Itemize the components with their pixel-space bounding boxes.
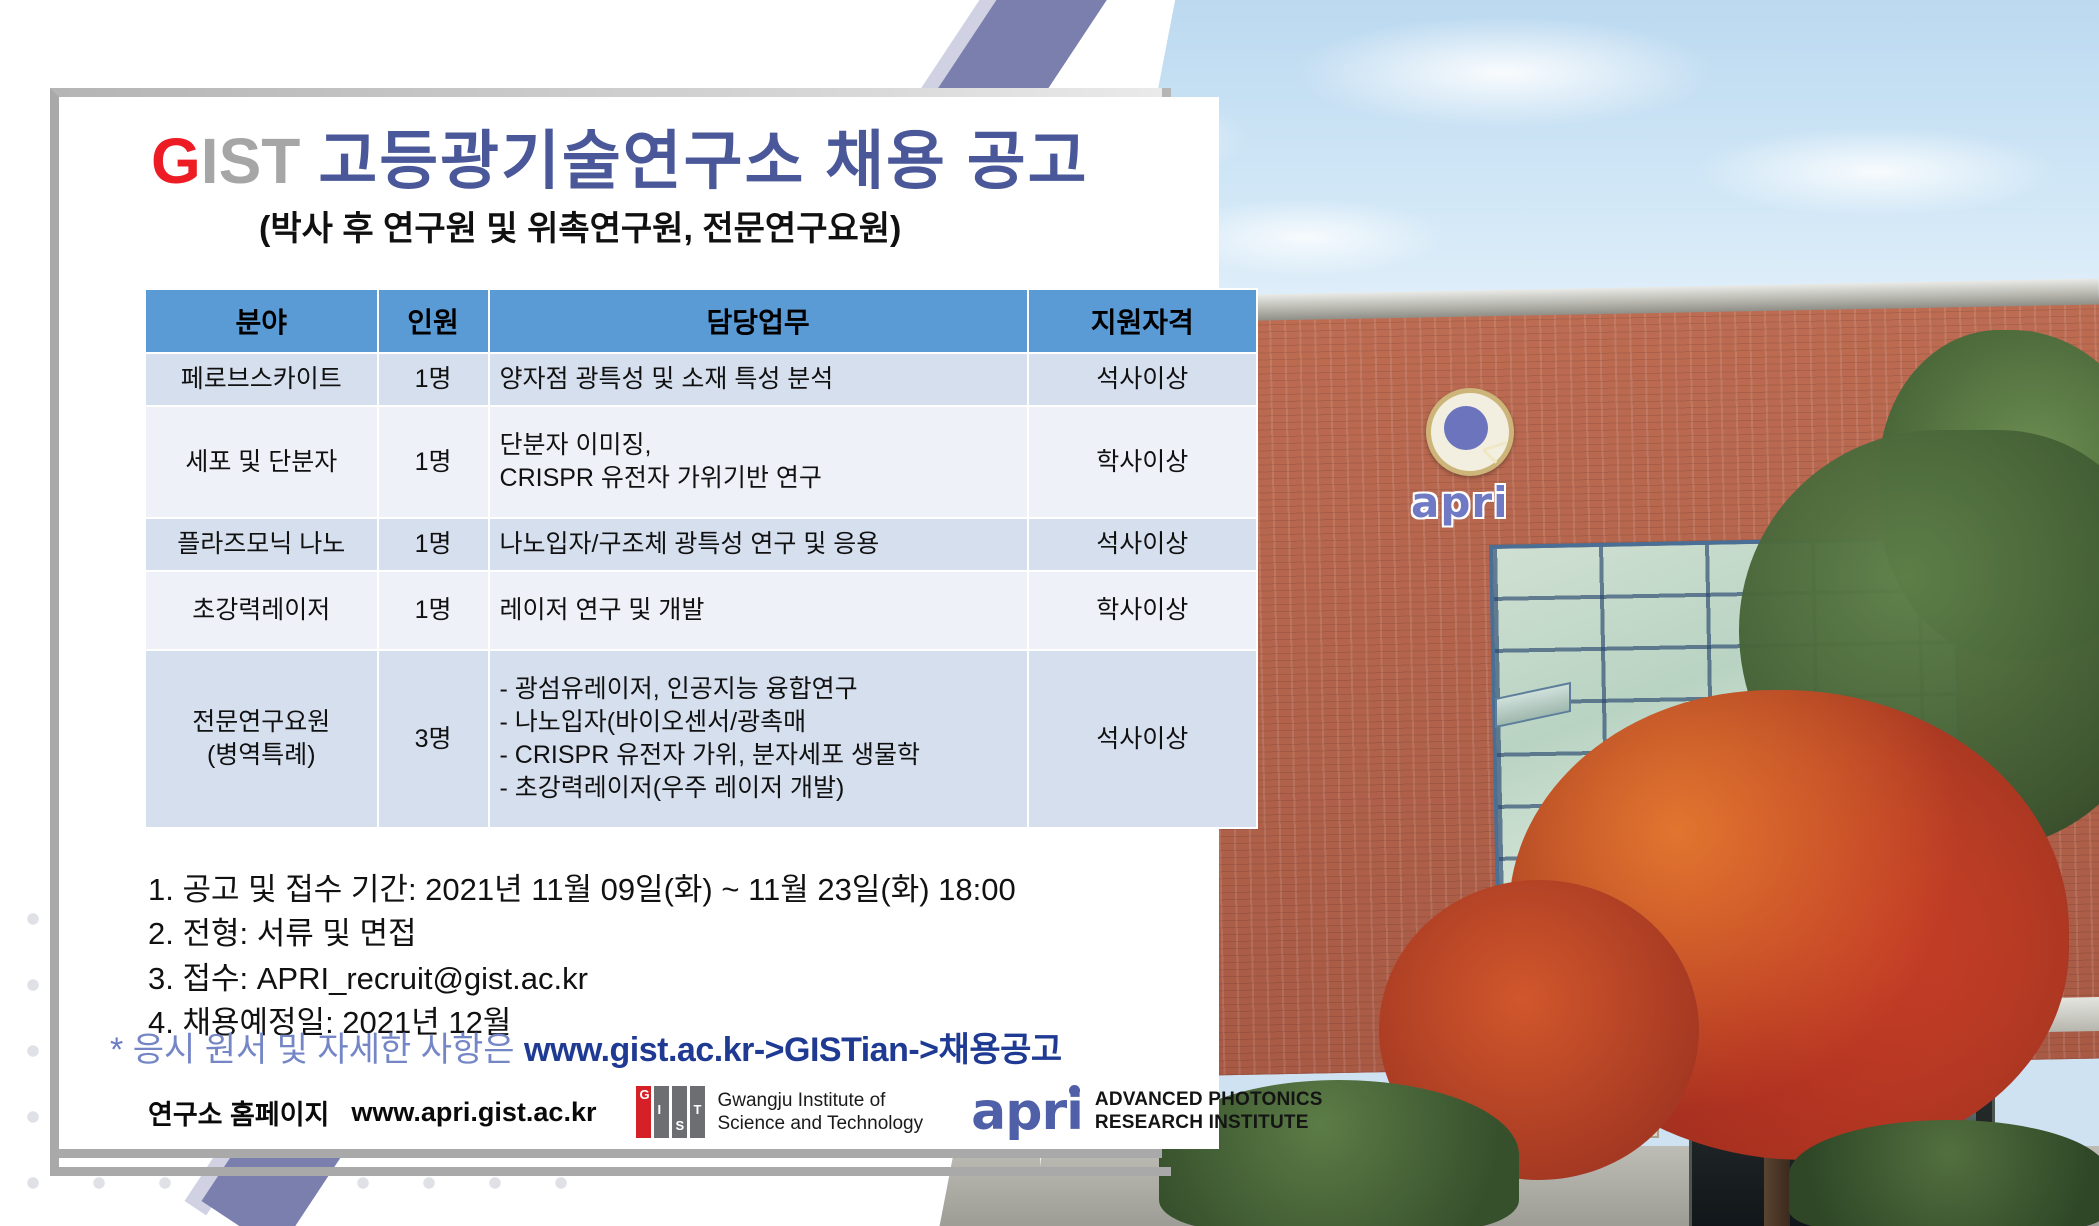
poster-header: GIST고등광기술연구소 채용 공고 (박사 후 연구원 및 위촉연구원, 전문… <box>59 128 1219 250</box>
cell-field: 초강력레이저 <box>145 571 378 650</box>
cell-count: 1명 <box>378 353 489 406</box>
cell-duty: 단분자 이미징,CRISPR 유전자 가위기반 연구 <box>489 406 1028 518</box>
column-header-field: 분야 <box>145 289 378 353</box>
page-title-korean: 고등광기술연구소 채용 공고 <box>318 125 1088 197</box>
cell-count: 1명 <box>378 571 489 650</box>
gist-letter-i: I <box>657 1102 661 1117</box>
gist-letter-g: G <box>639 1087 649 1102</box>
gist-block-t: T <box>690 1086 705 1138</box>
poster-footer: 연구소 홈페이지 www.apri.gist.ac.kr G I S T Gwa… <box>148 1086 1323 1138</box>
gist-logo-text: Gwangju Institute of Science and Technol… <box>717 1089 923 1135</box>
gist-logo-line1: Gwangju Institute of <box>717 1089 923 1112</box>
apri-logo: apri ADVANCED PHOTONICS RESEARCH INSTITU… <box>971 1089 1323 1136</box>
cell-qualification: 석사이상 <box>1028 518 1257 571</box>
table-row: 세포 및 단분자 1명 단분자 이미징,CRISPR 유전자 가위기반 연구 학… <box>145 406 1257 518</box>
building-clock-icon <box>1426 388 1514 476</box>
building-apri-sign: apri <box>1411 478 1509 527</box>
cell-field: 페로브스카이트 <box>145 353 378 406</box>
cell-duty: 레이저 연구 및 개발 <box>489 571 1028 650</box>
application-path-lead: 응시 원서 및 자세한 사항은 <box>133 1031 515 1069</box>
note-item-3: 3. 접수: APRI_recruit@gist.ac.kr <box>148 957 1016 1001</box>
gist-block-g: G <box>636 1086 651 1138</box>
cell-duty: 양자점 광특성 및 소재 특성 분석 <box>489 353 1028 406</box>
application-path-link[interactable]: www.gist.ac.kr->GISTian->채용공고 <box>524 1031 1062 1069</box>
table-body: 페로브스카이트 1명 양자점 광특성 및 소재 특성 분석 석사이상 세포 및 … <box>145 353 1257 828</box>
apri-logo-line1: ADVANCED PHOTONICS <box>1095 1089 1323 1112</box>
apri-wordmark-text: apri <box>971 1082 1083 1142</box>
table-row: 초강력레이저 1명 레이저 연구 및 개발 학사이상 <box>145 571 1257 650</box>
application-path-note: * 응시 원서 및 자세한 사항은 www.gist.ac.kr->GISTia… <box>110 1022 1062 1071</box>
gist-block-i: I <box>654 1086 669 1138</box>
cell-qualification: 석사이상 <box>1028 650 1257 828</box>
homepage-url[interactable]: www.apri.gist.ac.kr <box>351 1097 596 1128</box>
gist-letter-t: T <box>693 1102 701 1117</box>
cell-qualification: 학사이상 <box>1028 406 1257 518</box>
table-row: 페로브스카이트 1명 양자점 광특성 및 소재 특성 분석 석사이상 <box>145 353 1257 406</box>
clock-face <box>1444 406 1488 450</box>
gist-letter-s: S <box>675 1118 684 1133</box>
cell-duty: 나노입자/구조체 광특성 연구 및 응용 <box>489 518 1028 571</box>
cell-qualification: 석사이상 <box>1028 353 1257 406</box>
homepage-label: 연구소 홈페이지 <box>148 1093 329 1132</box>
cell-count: 1명 <box>378 406 489 518</box>
cell-count: 3명 <box>378 650 489 828</box>
apri-wordmark: apri <box>971 1089 1083 1136</box>
decorative-frame-top <box>59 88 1162 97</box>
apri-dot-icon <box>1069 1085 1080 1096</box>
clock-minute-hand <box>1483 441 1507 451</box>
column-header-qualification: 지원자격 <box>1028 289 1257 353</box>
table-row: 전문연구요원(병역특례) 3명 - 광섬유레이저, 인공지능 융합연구- 나노입… <box>145 650 1257 828</box>
gist-logo-line2: Science and Technology <box>717 1112 923 1135</box>
cell-field: 플라즈모닉 나노 <box>145 518 378 571</box>
cell-duty: - 광섬유레이저, 인공지능 융합연구- 나노입자(바이오센서/광촉매- CRI… <box>489 650 1028 828</box>
page-subtitle: (박사 후 연구원 및 위촉연구원, 전문연구요원) <box>259 201 1219 250</box>
decorative-frame-bottom <box>50 1149 1162 1158</box>
asterisk-icon: * <box>110 1031 123 1069</box>
column-header-count: 인원 <box>378 289 489 353</box>
note-item-1: 1. 공고 및 접수 기간: 2021년 11월 09일(화) ~ 11월 23… <box>148 868 1016 912</box>
poster-canvas: apri 연구소 GIST고등광기술연구소 채용 <box>0 0 2099 1226</box>
cell-qualification: 학사이상 <box>1028 571 1257 650</box>
cell-count: 1명 <box>378 518 489 571</box>
cell-field: 전문연구요원(병역특례) <box>145 650 378 828</box>
gist-logo: G I S T Gwangju Institute of Science and… <box>636 1086 923 1138</box>
recruitment-table: 분야 인원 담당업무 지원자격 페로브스카이트 1명 양자점 광특성 및 소재 … <box>144 288 1258 829</box>
column-header-duty: 담당업무 <box>489 289 1028 353</box>
cell-field: 세포 및 단분자 <box>145 406 378 518</box>
gist-block-s: S <box>672 1086 687 1138</box>
table-row: 플라즈모닉 나노 1명 나노입자/구조체 광특성 연구 및 응용 석사이상 <box>145 518 1257 571</box>
page-title: GIST고등광기술연구소 채용 공고 <box>151 128 1219 195</box>
gist-brand-ist: IST <box>201 125 301 197</box>
apri-logo-line2: RESEARCH INSTITUTE <box>1095 1112 1323 1135</box>
gist-logo-blocks: G I S T <box>636 1086 705 1138</box>
note-item-2: 2. 전형: 서류 및 면접 <box>148 912 1016 956</box>
apri-logo-text: ADVANCED PHOTONICS RESEARCH INSTITUTE <box>1095 1089 1323 1135</box>
notes-list: 1. 공고 및 접수 기간: 2021년 11월 09일(화) ~ 11월 23… <box>148 868 1016 1045</box>
gist-brand-g: G <box>151 125 201 197</box>
shrub-right <box>1789 1120 2099 1226</box>
table-header-row: 분야 인원 담당업무 지원자격 <box>145 289 1257 353</box>
